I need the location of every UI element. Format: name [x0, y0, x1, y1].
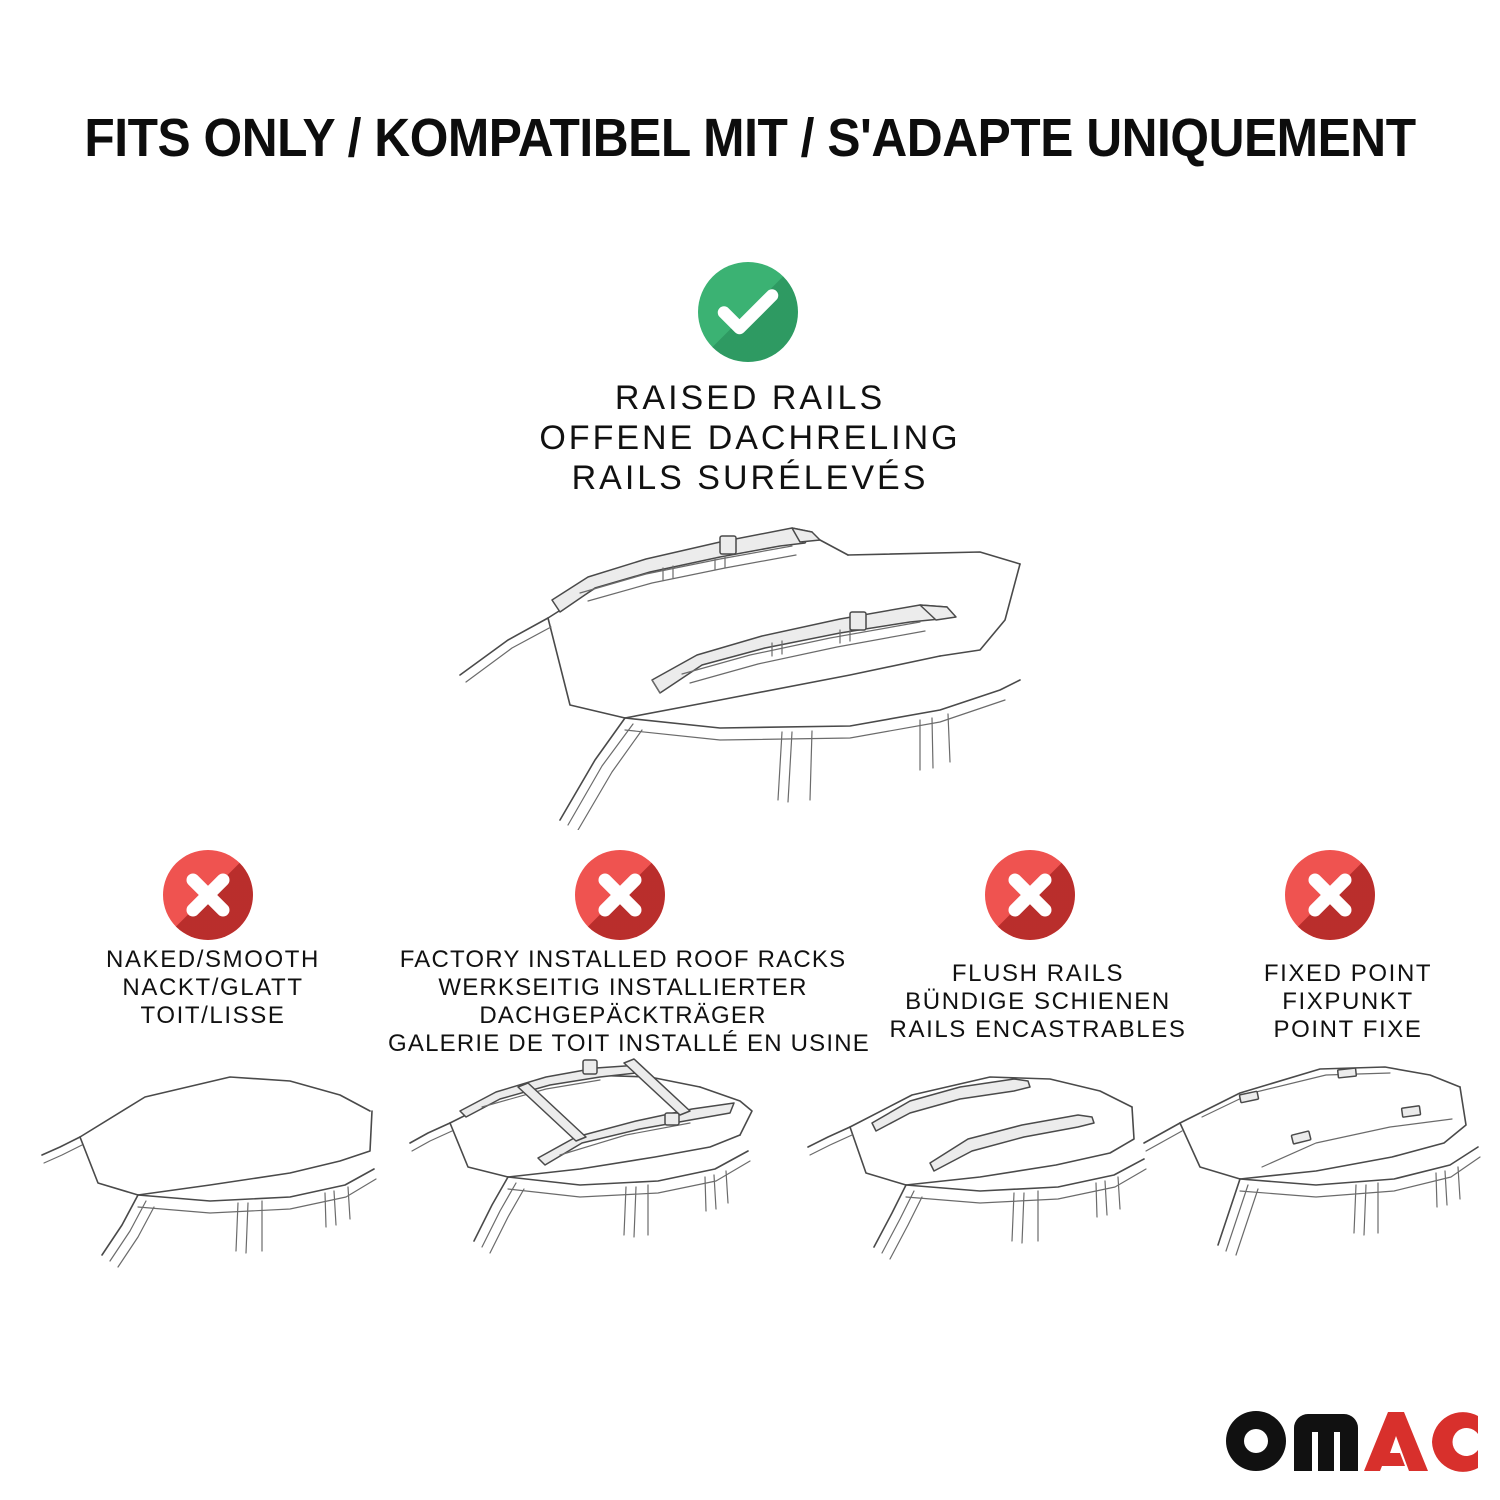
caption-line: FIXED POINT	[1218, 960, 1478, 988]
logo-letter-m	[1294, 1414, 1358, 1471]
cross-icon	[1285, 850, 1375, 940]
car-roof-naked-smooth-illustration	[40, 1055, 410, 1290]
caption-line: TOIT/LISSE	[48, 1002, 378, 1030]
caption-line: RAISED RAILS	[430, 378, 1070, 418]
cross-glyph	[1285, 850, 1375, 940]
caption-line: NACKT/GLATT	[48, 974, 378, 1002]
logo-letter-a	[1364, 1412, 1428, 1471]
caption-line: OFFENE DACHRELING	[430, 418, 1070, 458]
incompatible-caption-4: FIXED POINT FIXPUNKT POINT FIXE	[1218, 960, 1478, 1044]
caption-line: RAILS ENCASTRABLES	[868, 1016, 1208, 1044]
car-roof-fixed-point-illustration	[1140, 1055, 1500, 1290]
caption-line: FIXPUNKT	[1218, 988, 1478, 1016]
cross-glyph	[985, 850, 1075, 940]
caption-line: FACTORY INSTALLED ROOF RACKS	[388, 946, 858, 974]
incompatible-caption-1: NAKED/SMOOTH NACKT/GLATT TOIT/LISSE	[48, 946, 378, 1030]
car-roof-factory-installed-roof-racks-illustration	[400, 1055, 780, 1290]
logo-letter-o	[1226, 1411, 1286, 1471]
caption-line: FLUSH RAILS	[868, 960, 1208, 988]
cross-glyph	[163, 850, 253, 940]
cross-icon	[575, 850, 665, 940]
caption-line: DACHGEPÄCKTRÄGER	[388, 1002, 858, 1030]
caption-line: NAKED/SMOOTH	[48, 946, 378, 974]
car-roof-flush-rails-illustration	[800, 1055, 1180, 1290]
caption-line: GALERIE DE TOIT INSTALLÉ EN USINE	[388, 1030, 858, 1058]
car-roof-with-raised-rails-illustration	[420, 500, 1080, 830]
cross-icon	[163, 850, 253, 940]
compatible-caption: RAISED RAILS OFFENE DACHRELING RAILS SUR…	[430, 378, 1070, 498]
caption-line: RAILS SURÉLEVÉS	[430, 458, 1070, 498]
check-glyph	[698, 262, 798, 362]
check-icon	[698, 262, 798, 362]
caption-line: WERKSEITIG INSTALLIERTER	[388, 974, 858, 1002]
incompatible-caption-3: FLUSH RAILS BÜNDIGE SCHIENEN RAILS ENCAS…	[868, 960, 1208, 1044]
page-title: FITS ONLY / KOMPATIBEL MIT / S'ADAPTE UN…	[60, 108, 1440, 168]
caption-line: BÜNDIGE SCHIENEN	[868, 988, 1208, 1016]
cross-glyph	[575, 850, 665, 940]
omac-logo	[1222, 1408, 1478, 1474]
caption-line: POINT FIXE	[1218, 1016, 1478, 1044]
incompatible-caption-2: FACTORY INSTALLED ROOF RACKS WERKSEITIG …	[388, 946, 858, 1058]
logo-letter-c	[1432, 1412, 1478, 1472]
cross-icon	[985, 850, 1075, 940]
